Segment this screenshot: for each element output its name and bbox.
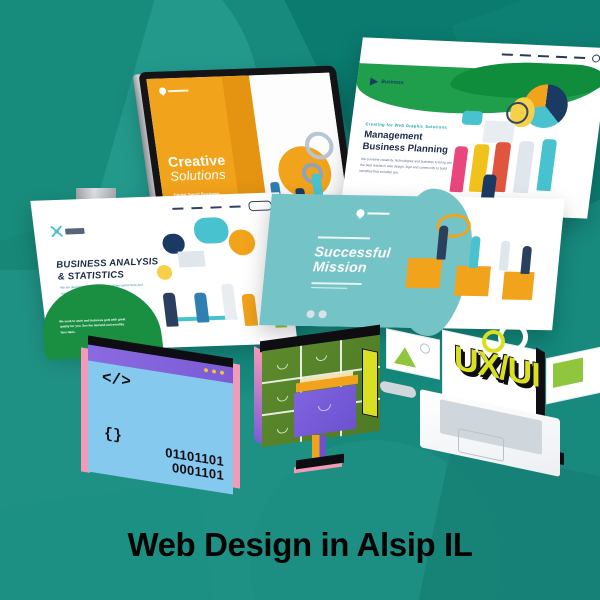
person-figure — [220, 283, 236, 319]
block-graphic — [502, 272, 535, 300]
card-kicker: Creating for Web Graphic Solutions — [365, 121, 447, 130]
logo-mark-icon — [355, 208, 366, 219]
person-figure — [450, 146, 469, 192]
page-dots[interactable] — [306, 310, 327, 318]
card-title: Successful Mission — [312, 244, 391, 276]
logo-wordmark — [168, 89, 188, 92]
business-analysis-statistics-card: BUSINESS ANALYSIS & STATISTICS We are de… — [30, 192, 297, 352]
poster-canvas: Creative Solutions Digital Smart Busines… — [0, 0, 600, 600]
drawer-handle-icon[interactable] — [277, 428, 288, 435]
card-logo — [51, 225, 85, 237]
card-logo — [356, 209, 390, 218]
card-logo-text: Business — [381, 79, 404, 86]
code-browser-window: </> {} 01101101 0001101 — [88, 345, 233, 495]
management-business-planning-card: Business Creating for Web Graphic Soluti… — [340, 37, 600, 218]
sparkle-icon — [51, 226, 63, 237]
speech-bubble-icon — [193, 217, 230, 244]
drawer-handle-icon[interactable] — [316, 355, 327, 362]
card-title-line1: BUSINESS ANALYSIS — [56, 256, 159, 270]
gear-bubble-icon — [228, 229, 257, 256]
logo-wordmark — [367, 212, 389, 215]
window-dot-1 — [204, 368, 208, 373]
mountain-icon — [394, 345, 416, 368]
person-figure — [520, 246, 532, 274]
lightbulb-icon — [157, 265, 174, 280]
window-dot-3 — [220, 370, 224, 375]
monitor-logo — [159, 87, 189, 95]
person-figure — [513, 140, 535, 192]
window-dot-2 — [212, 369, 216, 374]
ruler-icon — [362, 348, 378, 417]
monitor-headline: Creative Solutions — [167, 153, 228, 184]
person-figure — [536, 139, 557, 191]
card-logo: Business — [370, 78, 404, 87]
person-figure — [499, 241, 511, 271]
open-drawer[interactable] — [294, 385, 356, 438]
card-logo-text — [65, 227, 85, 234]
document-graphic — [482, 120, 515, 143]
nav-circle-icon — [592, 54, 600, 62]
block-graphic — [454, 266, 491, 296]
wireframe-block — [553, 358, 583, 388]
card-title-line2: Mission — [312, 260, 390, 277]
person-figure — [194, 293, 210, 323]
sun-icon — [420, 342, 430, 354]
chart-graphic — [177, 251, 205, 268]
card-body-text: We combine creativity, technologies and … — [359, 157, 457, 178]
monitor-headline-sub: Solutions — [169, 168, 228, 184]
person-figure — [241, 294, 258, 326]
page-title: Web Design in Alsip IL — [0, 526, 600, 564]
ux-ui-laptop: UX/UI — [398, 330, 588, 490]
green-note-text: We work to work and business goal with g… — [59, 317, 131, 336]
person-figure — [163, 292, 179, 326]
speech-bubble-icon — [461, 111, 483, 126]
card-illustration — [444, 76, 600, 217]
card-illustration — [396, 204, 560, 324]
curly-brace-icon: {} — [104, 425, 122, 445]
card-title-line2: Business Planning — [362, 141, 449, 156]
block-graphic — [406, 258, 443, 288]
drawer-handle-icon[interactable] — [277, 364, 288, 371]
title-underlines — [311, 282, 362, 292]
card-topnav[interactable] — [501, 50, 600, 62]
person-figure — [469, 236, 481, 268]
drawer-handle-icon[interactable] — [277, 396, 288, 403]
card-title-line2: & STATISTICS — [57, 270, 124, 283]
window-controls[interactable] — [204, 368, 224, 375]
successful-mission-card: Successful Mission — [259, 194, 565, 331]
arrow-icon — [370, 78, 379, 86]
